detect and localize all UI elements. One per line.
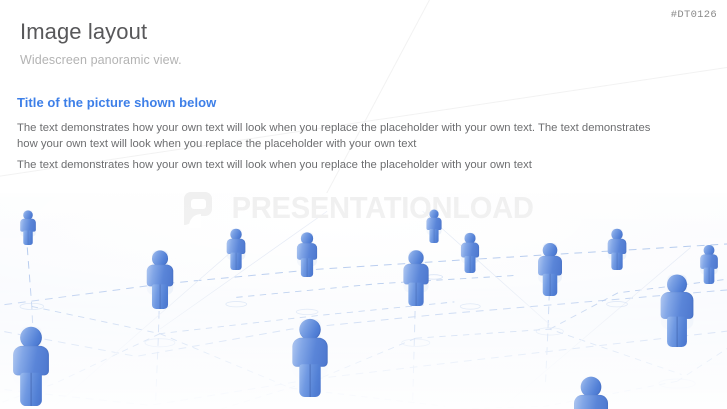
person-figure: [227, 229, 246, 270]
person-figure: [538, 243, 562, 296]
person-figure: [608, 229, 627, 270]
reflection-fade-mask: [0, 193, 727, 409]
person-figure: [700, 245, 718, 284]
slide-canvas: #DT0126 Image layout Widescreen panorami…: [0, 0, 727, 409]
document-id: #DT0126: [671, 9, 717, 21]
person-figure: [147, 250, 173, 309]
person-figure: [297, 233, 317, 278]
page-title: Image layout: [20, 19, 147, 45]
person-figure: [426, 209, 441, 242]
person-figure: [661, 275, 694, 348]
person-figure: [13, 327, 49, 406]
person-figure: [461, 233, 479, 273]
picture-title: Title of the picture shown below: [17, 95, 216, 110]
person-figure: [293, 319, 328, 397]
body-paragraph-1: The text demonstrates how your own text …: [17, 121, 667, 152]
person-figure: [574, 376, 608, 409]
page-subtitle: Widescreen panoramic view.: [20, 53, 182, 67]
person-figure: [20, 210, 36, 245]
image-placeholder[interactable]: [0, 193, 727, 409]
body-paragraph-2: The text demonstrates how your own text …: [17, 158, 667, 174]
person-figure: [403, 250, 428, 306]
